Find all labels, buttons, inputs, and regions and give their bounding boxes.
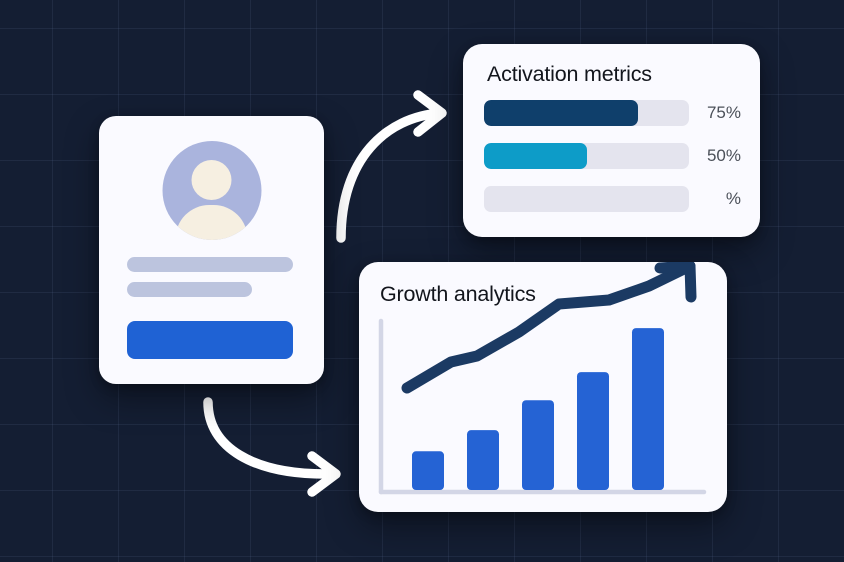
illustration-canvas: Activation metrics 75% 50% % Growth anal… (0, 0, 844, 562)
name-placeholder (127, 257, 293, 272)
growth-chart (359, 262, 727, 512)
growth-analytics-card: Growth analytics (359, 262, 727, 512)
metric-row: 50% (484, 143, 742, 169)
metric-value-label: % (701, 189, 741, 209)
profile-cta-button[interactable] (127, 321, 293, 359)
avatar-head-shape (192, 160, 232, 200)
metric-value-label: 75% (701, 103, 741, 123)
metric-progress-fill (484, 143, 587, 169)
chart-bar (522, 400, 554, 490)
metric-row: 75% (484, 100, 742, 126)
chart-bar (412, 451, 444, 490)
metric-progress-fill (484, 100, 638, 126)
activation-metrics-card: Activation metrics 75% 50% % (463, 44, 760, 237)
subtitle-placeholder (127, 282, 252, 297)
avatar-body-shape (176, 205, 248, 240)
user-avatar-icon (162, 141, 261, 240)
chart-bar-group (412, 328, 664, 490)
metric-value-label: 50% (701, 146, 741, 166)
metric-progress-track (484, 100, 689, 126)
profile-to-activation-arrow (341, 95, 442, 238)
activation-metrics-title: Activation metrics (487, 62, 652, 87)
profile-to-growth-arrow (208, 402, 336, 492)
metric-progress-track (484, 186, 689, 212)
chart-bar (467, 430, 499, 490)
metric-progress-track (484, 143, 689, 169)
chart-bar (577, 372, 609, 490)
user-profile-card[interactable] (99, 116, 324, 384)
metric-row: % (484, 186, 742, 212)
chart-bar (632, 328, 664, 490)
